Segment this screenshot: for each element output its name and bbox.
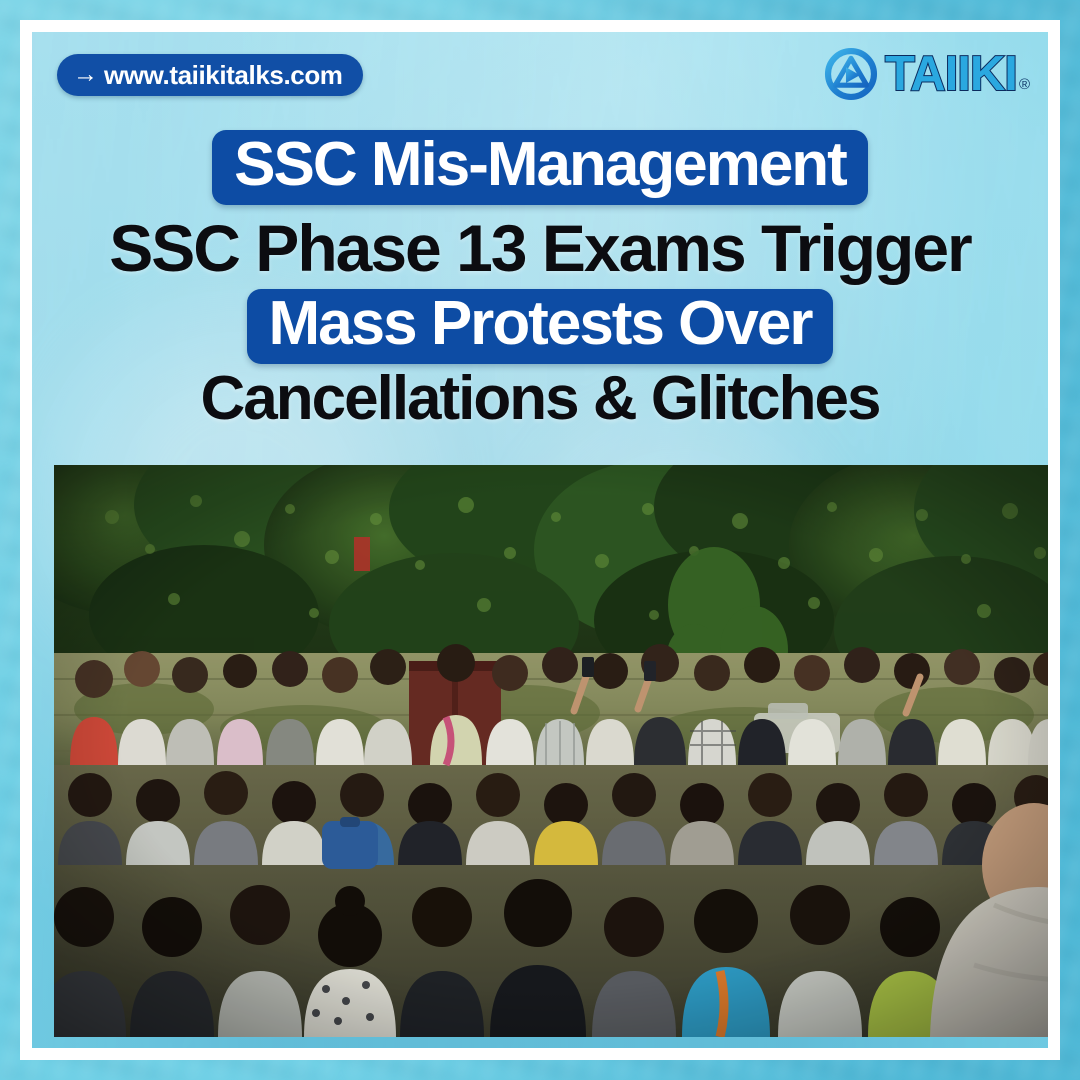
headline-line-4: Cancellations & Glitches [32, 366, 1048, 436]
headline-text-3: Mass Protests Over [269, 289, 812, 358]
headline-block: SSC Mis-Management SSC Phase 13 Exams Tr… [32, 130, 1048, 436]
circle-play-logo-icon [823, 46, 879, 102]
headline-line-3: Mass Protests Over [32, 289, 1048, 364]
headline-line-1: SSC Mis-Management [32, 130, 1048, 205]
white-frame-border: → www.taiikitalks.com TAI [20, 20, 1060, 1060]
website-url-label: www.taiikitalks.com [104, 60, 343, 91]
headline-chip-1: SSC Mis-Management [212, 130, 868, 205]
crowd-scene-illustration [54, 465, 1052, 1037]
website-url-pill[interactable]: → www.taiikitalks.com [57, 54, 363, 96]
headline-line-2: SSC Phase 13 Exams Trigger [32, 213, 1048, 287]
headline-text-1: SSC Mis-Management [234, 130, 846, 199]
registered-trademark-icon: ® [1019, 76, 1030, 93]
brand-logo[interactable]: TAIIKI ® [823, 46, 1030, 102]
arrow-right-icon: → [73, 62, 98, 87]
headline-plain-2: SSC Phase 13 Exams Trigger [99, 213, 980, 287]
headline-text-4: Cancellations & Glitches [201, 364, 880, 433]
brand-wordmark: TAIIKI [885, 50, 1017, 99]
headline-plain-4: Cancellations & Glitches [191, 366, 890, 436]
social-media-poster: → www.taiikitalks.com TAI [0, 0, 1080, 1080]
top-bar: → www.taiikitalks.com TAI [32, 32, 1048, 128]
headline-text-2: SSC Phase 13 Exams Trigger [109, 211, 970, 285]
headline-chip-3: Mass Protests Over [247, 289, 834, 364]
protest-crowd-photo [54, 465, 1052, 1037]
